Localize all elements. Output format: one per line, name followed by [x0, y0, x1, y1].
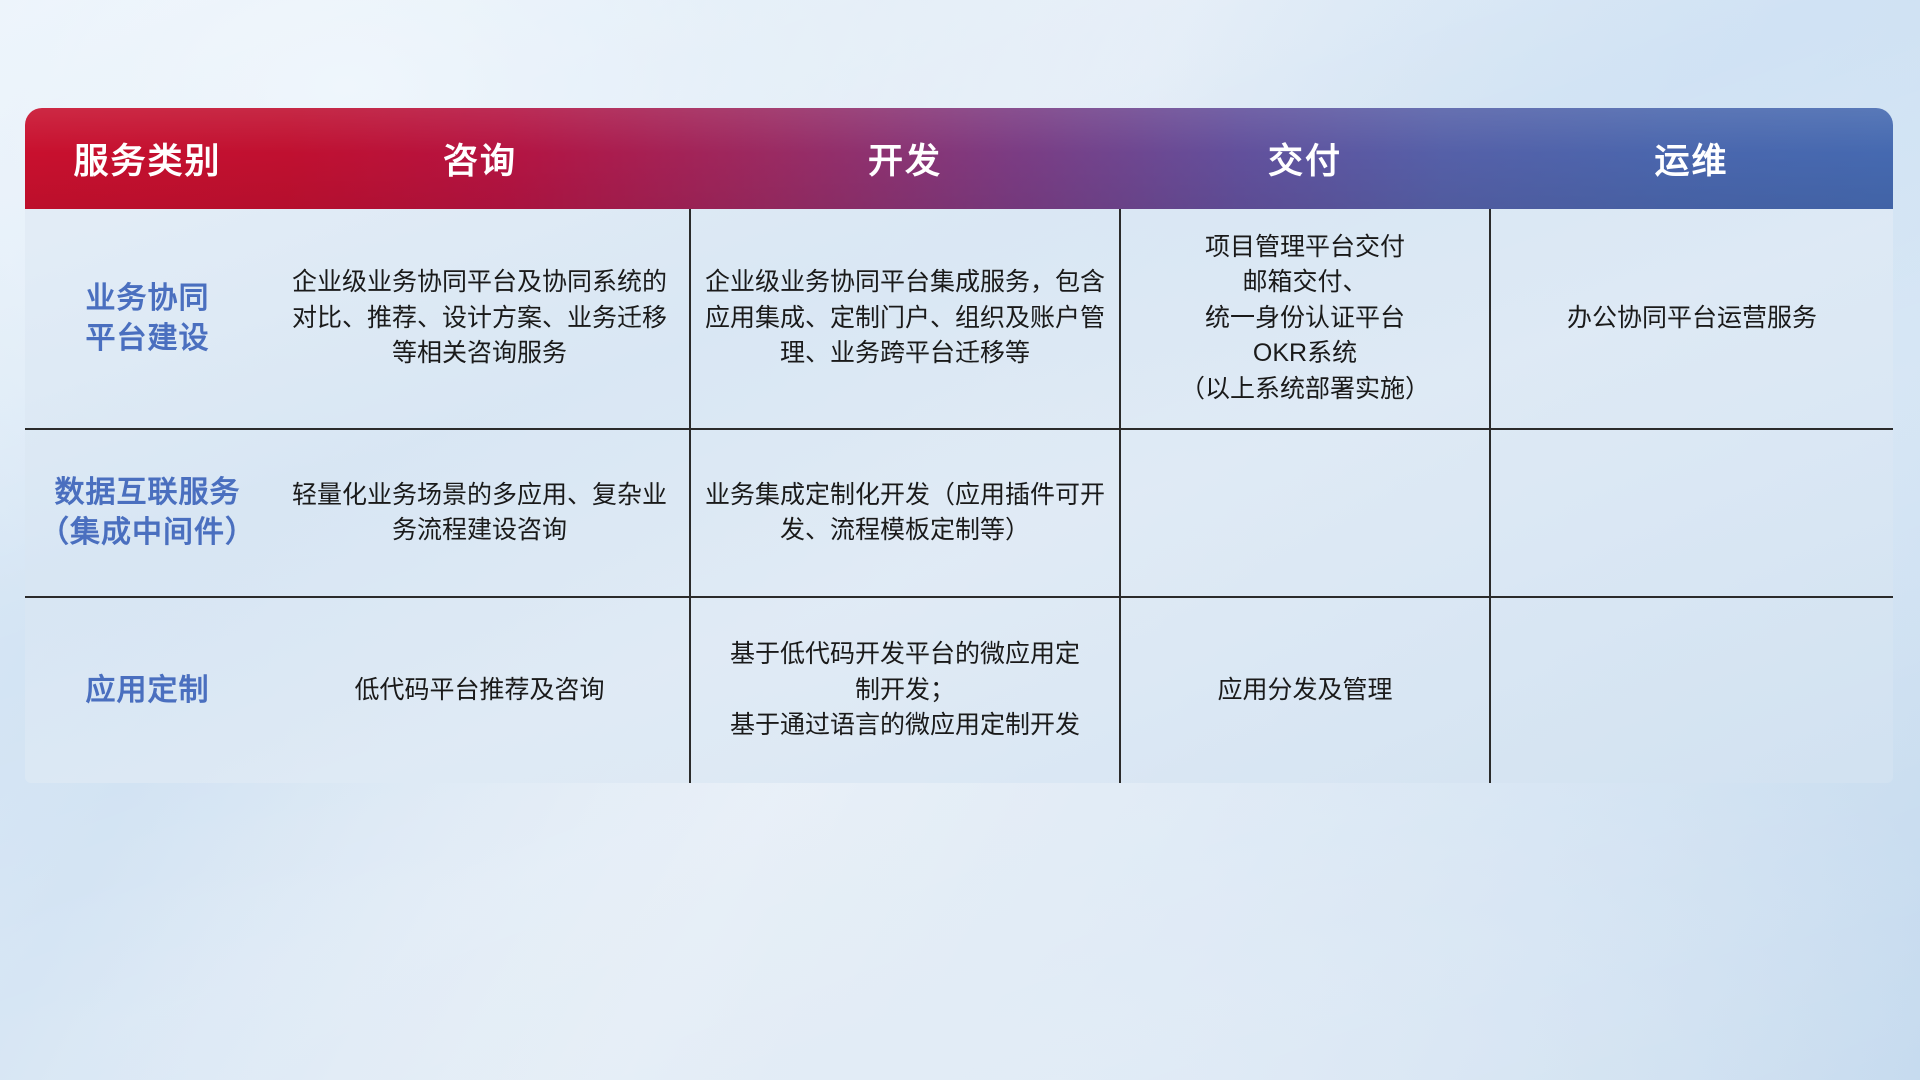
- column-header-operations: 运维: [1490, 108, 1893, 209]
- cell-delivery: 应用分发及管理: [1120, 597, 1490, 783]
- category-line: 平台建设: [39, 319, 256, 359]
- cell-consulting: 轻量化业务场景的多应用、复杂业务流程建设咨询: [270, 429, 690, 597]
- delivery-line: （以上系统部署实施）: [1135, 372, 1475, 408]
- table-header-row: 服务类别 咨询 开发 交付 运维: [25, 108, 1893, 209]
- table-header: 服务类别 咨询 开发 交付 运维: [25, 108, 1893, 209]
- cell-development: 企业级业务协同平台集成服务，包含应用集成、定制门户、组织及账户管理、业务跨平台迁…: [690, 209, 1120, 429]
- cell-delivery: 项目管理平台交付 邮箱交付、 统一身份认证平台 OKR系统 （以上系统部署实施）: [1120, 209, 1490, 429]
- table-body: 业务协同 平台建设 企业级业务协同平台及协同系统的对比、推荐、设计方案、业务迁移…: [25, 209, 1893, 783]
- delivery-line: 邮箱交付、: [1135, 265, 1475, 301]
- row-category-label: 业务协同 平台建设: [25, 209, 270, 429]
- category-line: 数据互联服务: [39, 473, 256, 513]
- delivery-line: OKR系统: [1135, 336, 1475, 372]
- table-row: 数据互联服务 （集成中间件） 轻量化业务场景的多应用、复杂业务流程建设咨询 业务…: [25, 429, 1893, 597]
- row-category-label: 应用定制: [25, 597, 270, 783]
- cell-development: 基于低代码开发平台的微应用定 制开发； 基于通过语言的微应用定制开发: [690, 597, 1120, 783]
- row-category-label: 数据互联服务 （集成中间件）: [25, 429, 270, 597]
- cell-development: 业务集成定制化开发（应用插件可开发、流程模板定制等）: [690, 429, 1120, 597]
- delivery-line: 应用分发及管理: [1135, 673, 1475, 709]
- development-line: 制开发；: [705, 673, 1105, 709]
- cell-operations: [1490, 429, 1893, 597]
- column-header-development: 开发: [690, 108, 1120, 209]
- category-line: 应用定制: [39, 671, 256, 711]
- cell-operations: [1490, 597, 1893, 783]
- delivery-line: 项目管理平台交付: [1135, 230, 1475, 266]
- service-matrix-table-wrapper: 服务类别 咨询 开发 交付 运维 业务协同 平台建设 企业级业务协同平台及协同系…: [25, 108, 1893, 783]
- category-line: 业务协同: [39, 279, 256, 319]
- cell-consulting: 低代码平台推荐及咨询: [270, 597, 690, 783]
- cell-consulting: 企业级业务协同平台及协同系统的对比、推荐、设计方案、业务迁移等相关咨询服务: [270, 209, 690, 429]
- category-line: （集成中间件）: [39, 513, 256, 553]
- development-line: 基于通过语言的微应用定制开发: [705, 708, 1105, 744]
- table-row: 应用定制 低代码平台推荐及咨询 基于低代码开发平台的微应用定 制开发； 基于通过…: [25, 597, 1893, 783]
- slide-canvas: 服务类别 咨询 开发 交付 运维 业务协同 平台建设 企业级业务协同平台及协同系…: [0, 0, 1920, 1080]
- column-header-consulting: 咨询: [270, 108, 690, 209]
- column-header-category: 服务类别: [25, 108, 270, 209]
- development-line: 基于低代码开发平台的微应用定: [705, 637, 1105, 673]
- cell-delivery: [1120, 429, 1490, 597]
- table-row: 业务协同 平台建设 企业级业务协同平台及协同系统的对比、推荐、设计方案、业务迁移…: [25, 209, 1893, 429]
- cell-operations: 办公协同平台运营服务: [1490, 209, 1893, 429]
- column-header-delivery: 交付: [1120, 108, 1490, 209]
- delivery-line: 统一身份认证平台: [1135, 301, 1475, 337]
- service-matrix-table: 服务类别 咨询 开发 交付 运维 业务协同 平台建设 企业级业务协同平台及协同系…: [25, 108, 1893, 783]
